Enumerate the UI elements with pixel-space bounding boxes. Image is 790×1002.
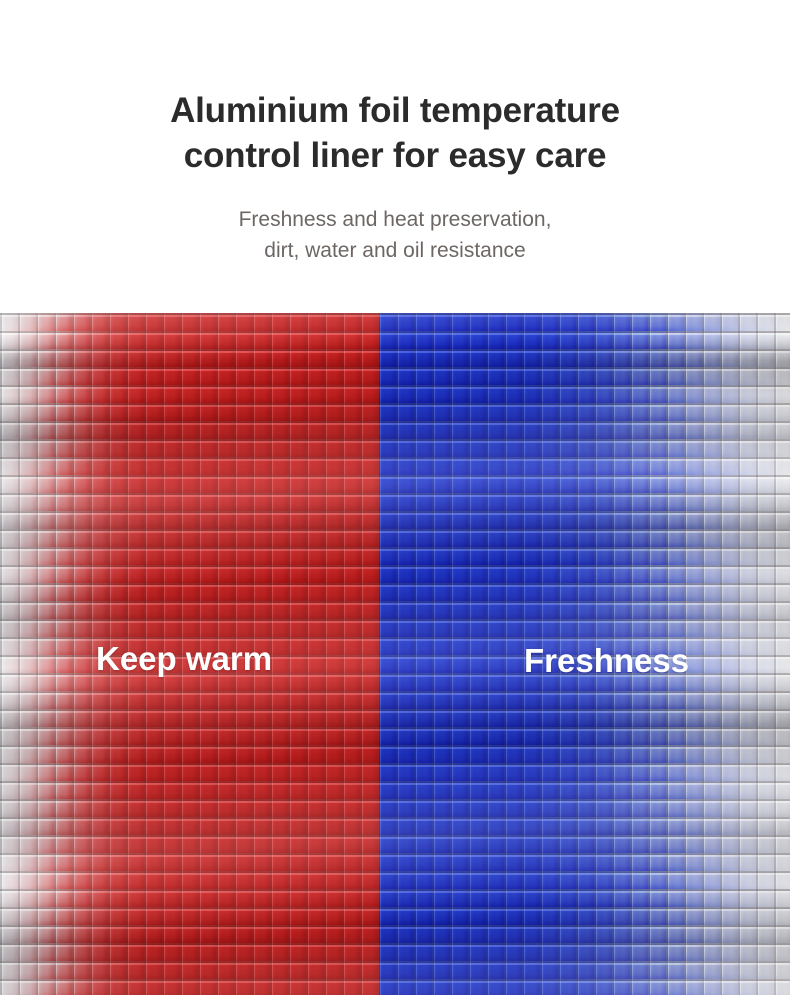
page-title-line-2: control liner for easy care [0, 133, 790, 178]
page-subtitle-line-2: dirt, water and oil resistance [0, 235, 790, 266]
page-title-line-1: Aluminium foil temperature [170, 91, 620, 130]
product-detail-page: Aluminium foil temperature control liner… [0, 0, 790, 1002]
label-keep-warm: Keep warm [96, 639, 272, 679]
page-title: Aluminium foil temperature control liner… [0, 88, 790, 178]
footer-white-strip [0, 995, 790, 1002]
label-freshness: Freshness [524, 641, 689, 681]
header-text-block: Aluminium foil temperature control liner… [0, 0, 790, 313]
page-subtitle-line-1: Freshness and heat preservation, [239, 208, 552, 231]
page-subtitle: Freshness and heat preservation, dirt, w… [0, 178, 790, 266]
